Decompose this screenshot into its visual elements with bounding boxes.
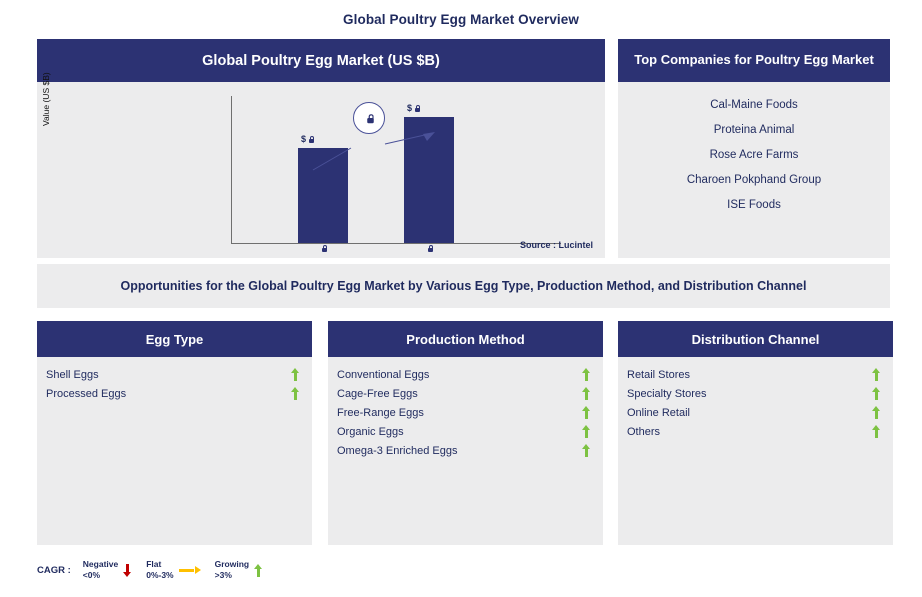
legend-title: CAGR :: [37, 565, 71, 576]
up-arrow-icon: [582, 368, 591, 381]
list-item-label: Cage-Free Eggs: [337, 388, 418, 400]
legend-item-text: Negative <0%: [83, 559, 118, 580]
list-item-label: Conventional Eggs: [337, 369, 429, 381]
column-item-list: Conventional Eggs Cage-Free Eggs Free-Ra…: [328, 357, 603, 460]
list-item: ISE Foods: [618, 192, 890, 217]
list-item: Rose Acre Farms: [618, 142, 890, 167]
x-axis-label-2: [425, 238, 434, 256]
list-item-label: Specialty Stores: [627, 388, 706, 400]
up-arrow-icon: [291, 387, 300, 400]
cagr-bubble: [353, 102, 385, 134]
right-arrow-icon: [179, 566, 201, 575]
column-item-list: Retail Stores Specialty Stores Online Re…: [618, 357, 893, 441]
category-column-egg-type: Egg Type Shell Eggs Processed Eggs: [37, 321, 312, 545]
infographic-page: Global Poultry Egg Market Overview Globa…: [0, 0, 922, 597]
list-item: Cage-Free Eggs: [337, 384, 593, 403]
legend-item-name: Growing: [215, 559, 249, 569]
list-item-label: Retail Stores: [627, 369, 690, 381]
chart-y-axis-label: Value (US $B): [41, 112, 51, 126]
down-arrow-icon: [123, 564, 132, 577]
legend-item-growing: Growing >3%: [215, 559, 265, 580]
list-item: Others: [627, 422, 883, 441]
top-companies-title: Top Companies for Poultry Egg Market: [618, 39, 890, 82]
bar-2-value-text: $: [407, 103, 412, 113]
legend-item-range: <0%: [83, 570, 100, 580]
list-item: Processed Eggs: [46, 384, 302, 403]
list-item: Specialty Stores: [627, 384, 883, 403]
lock-icon: [321, 244, 328, 252]
legend-item-text: Growing >3%: [215, 559, 249, 580]
up-arrow-icon: [291, 368, 300, 381]
market-chart-body: Value (US $B) $ $: [37, 82, 605, 258]
legend-item-text: Flat 0%-3%: [146, 559, 173, 580]
legend-item-name: Flat: [146, 559, 161, 569]
up-arrow-icon: [872, 406, 881, 419]
list-item-label: Online Retail: [627, 407, 690, 419]
top-companies-panel: Top Companies for Poultry Egg Market Cal…: [618, 39, 890, 258]
bar-2-value-label: $: [407, 103, 421, 113]
market-chart-title: Global Poultry Egg Market (US $B): [37, 39, 605, 82]
legend-item-name: Negative: [83, 559, 118, 569]
list-item: Organic Eggs: [337, 422, 593, 441]
market-chart-panel: Global Poultry Egg Market (US $B) Value …: [37, 39, 605, 258]
lock-icon: [414, 104, 421, 112]
bar-1-value-text: $: [301, 134, 306, 144]
up-arrow-icon: [582, 406, 591, 419]
chart-source: Source : Lucintel: [520, 240, 593, 250]
column-item-list: Shell Eggs Processed Eggs: [37, 357, 312, 403]
lock-icon: [365, 113, 374, 123]
top-companies-list: Cal-Maine Foods Proteina Animal Rose Acr…: [618, 82, 890, 217]
list-item: Proteina Animal: [618, 117, 890, 142]
list-item: Retail Stores: [627, 365, 883, 384]
opportunities-banner: Opportunities for the Global Poultry Egg…: [37, 264, 890, 308]
cagr-legend: CAGR : Negative <0% Flat 0%-3% Growing >…: [37, 555, 437, 585]
list-item-label: Omega-3 Enriched Eggs: [337, 445, 457, 457]
list-item: Conventional Eggs: [337, 365, 593, 384]
list-item-label: Others: [627, 426, 660, 438]
category-column-production-method: Production Method Conventional Eggs Cage…: [328, 321, 603, 545]
up-arrow-icon: [582, 444, 591, 457]
list-item: Shell Eggs: [46, 365, 302, 384]
list-item-label: Organic Eggs: [337, 426, 404, 438]
list-item-label: Free-Range Eggs: [337, 407, 424, 419]
up-arrow-icon: [872, 425, 881, 438]
column-title: Distribution Channel: [618, 321, 893, 357]
legend-item-flat: Flat 0%-3%: [146, 559, 200, 580]
list-item: Online Retail: [627, 403, 883, 422]
up-arrow-icon: [872, 387, 881, 400]
legend-item-range: >3%: [215, 570, 232, 580]
legend-item-range: 0%-3%: [146, 570, 173, 580]
up-arrow-icon: [254, 564, 263, 577]
chart-plot-area: $ $: [231, 82, 561, 258]
list-item: Cal-Maine Foods: [618, 92, 890, 117]
cagr-trend-arrow: [311, 132, 441, 174]
category-column-distribution-channel: Distribution Channel Retail Stores Speci…: [618, 321, 893, 545]
up-arrow-icon: [872, 368, 881, 381]
up-arrow-icon: [582, 387, 591, 400]
x-axis-label-1: [319, 238, 328, 256]
legend-item-negative: Negative <0%: [83, 559, 132, 580]
list-item: Free-Range Eggs: [337, 403, 593, 422]
list-item-label: Shell Eggs: [46, 369, 99, 381]
column-title: Production Method: [328, 321, 603, 357]
list-item: Charoen Pokphand Group: [618, 167, 890, 192]
column-title: Egg Type: [37, 321, 312, 357]
list-item: Omega-3 Enriched Eggs: [337, 441, 593, 460]
lock-icon: [427, 244, 434, 252]
up-arrow-icon: [582, 425, 591, 438]
list-item-label: Processed Eggs: [46, 388, 126, 400]
page-title: Global Poultry Egg Market Overview: [0, 12, 922, 27]
